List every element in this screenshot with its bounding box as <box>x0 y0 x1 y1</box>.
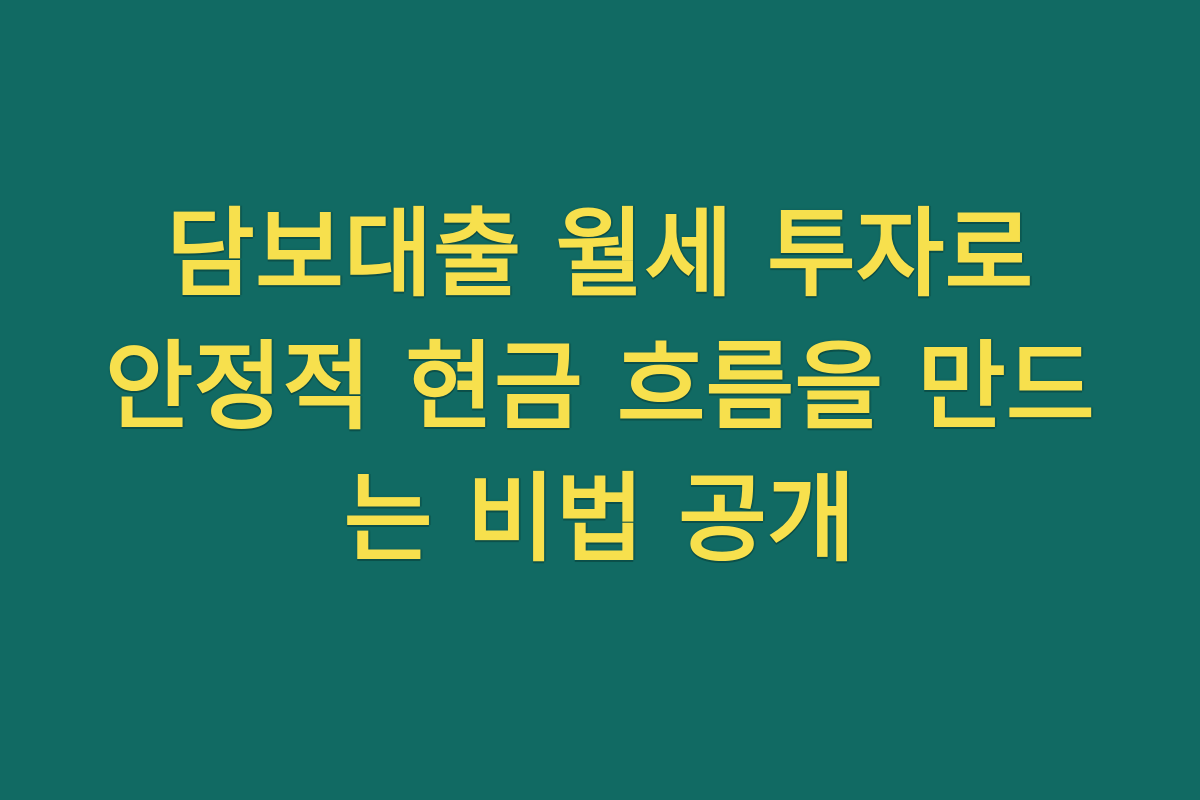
headline-text: 담보대출 월세 투자로 안정적 현금 흐름을 만드 는 비법 공개 <box>70 188 1130 611</box>
title-card: 담보대출 월세 투자로 안정적 현금 흐름을 만드 는 비법 공개 <box>0 0 1200 800</box>
headline-line-1: 담보대출 월세 투자로 <box>70 188 1130 320</box>
headline-line-2: 안정적 현금 흐름을 만드 <box>70 321 1130 453</box>
headline-line-3: 는 비법 공개 <box>70 453 1130 585</box>
